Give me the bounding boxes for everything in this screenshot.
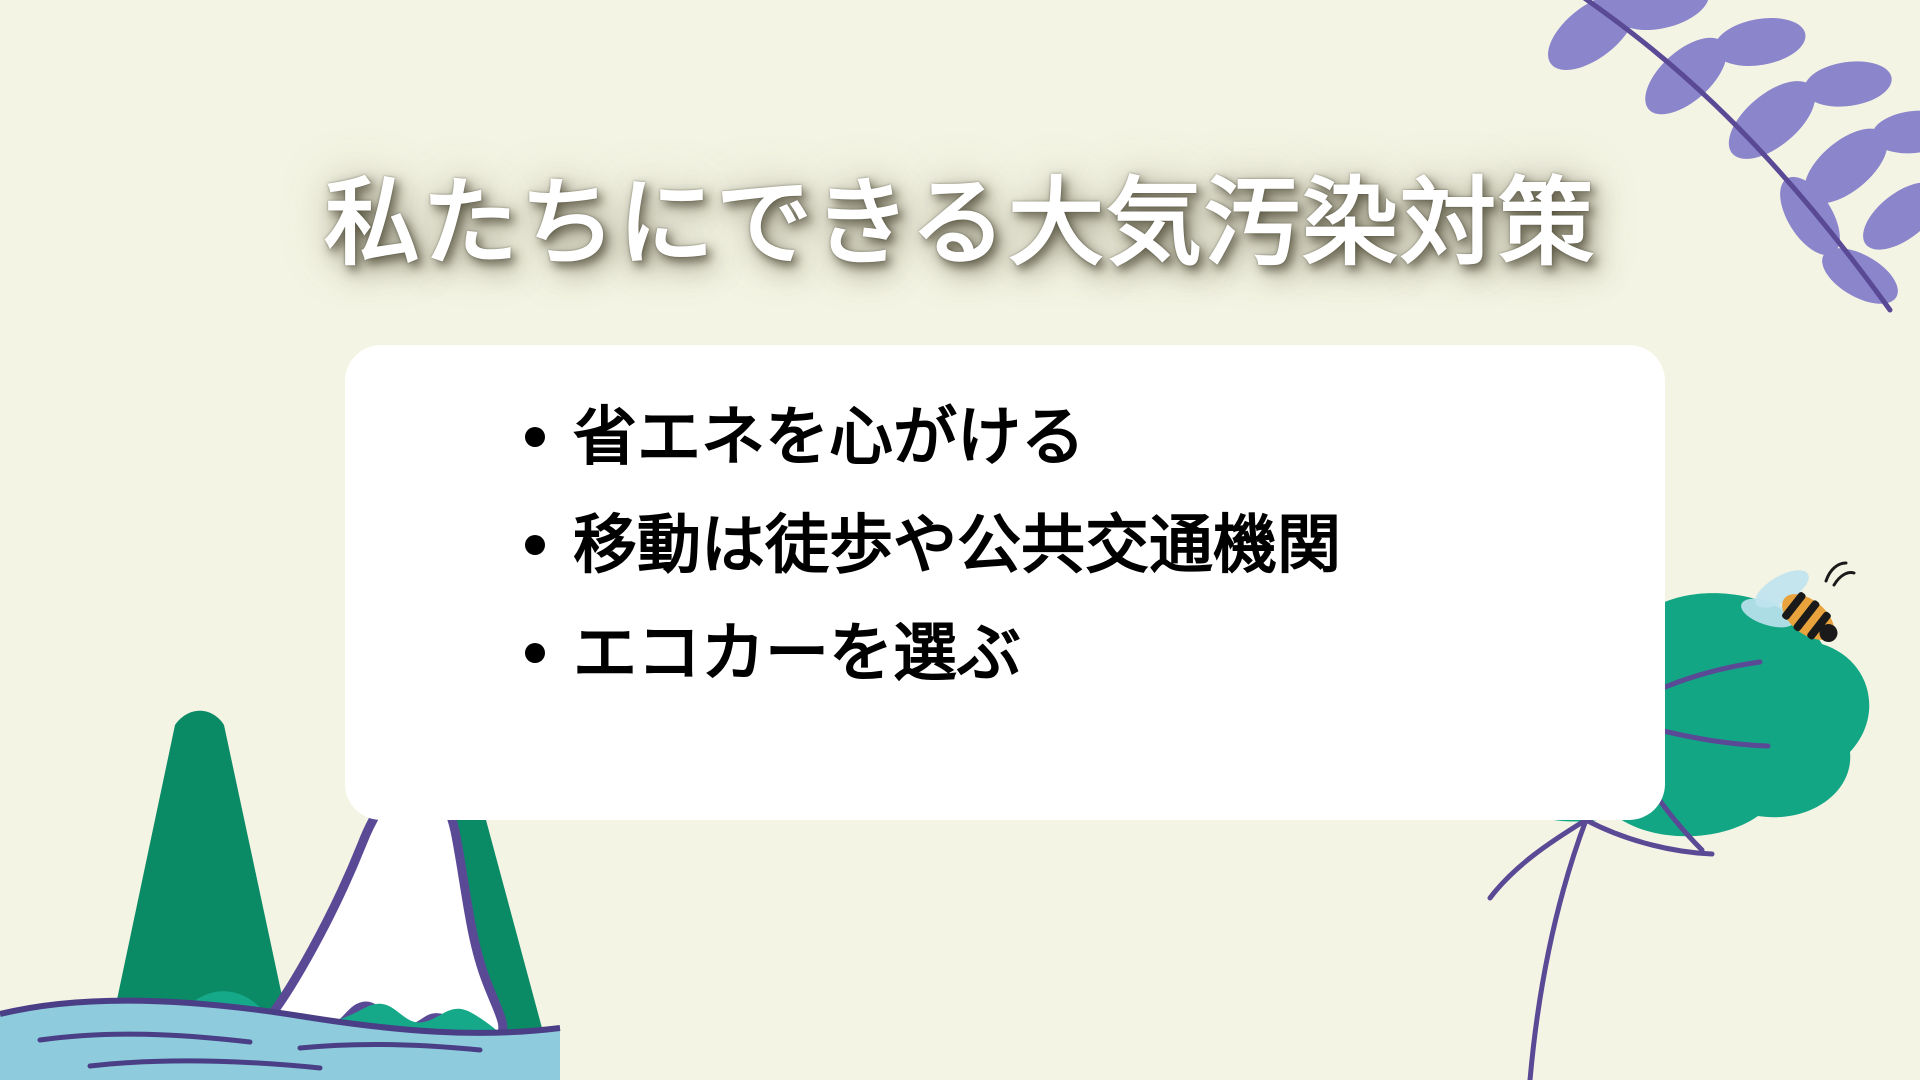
bullet-dot-icon [525, 535, 545, 555]
bee-icon [1730, 555, 1860, 675]
list-item: 移動は徒歩や公共交通機関 [525, 513, 1665, 577]
list-item-label: エコカーを選ぶ [573, 621, 1021, 685]
slide-canvas: 私たちにできる大気汚染対策 省エネを心がける 移動は徒歩や公共交通機関 エコカー… [0, 0, 1920, 1080]
list-item: 省エネを心がける [525, 405, 1665, 469]
bullet-dot-icon [525, 643, 545, 663]
list-item-label: 移動は徒歩や公共交通機関 [573, 513, 1341, 577]
list-item: エコカーを選ぶ [525, 621, 1665, 685]
list-item-label: 省エネを心がける [573, 405, 1085, 469]
bullet-dot-icon [525, 427, 545, 447]
bullet-list: 省エネを心がける 移動は徒歩や公共交通機関 エコカーを選ぶ [345, 345, 1665, 820]
page-title: 私たちにできる大気汚染対策 [0, 172, 1920, 276]
